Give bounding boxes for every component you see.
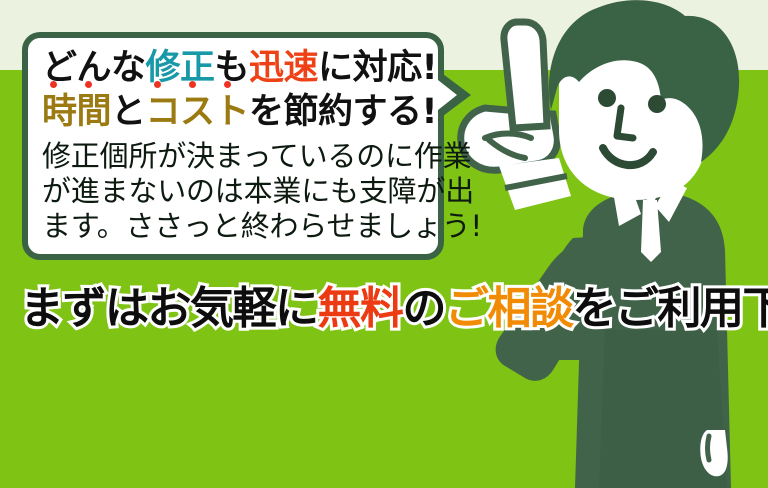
emphasis-dot — [50, 81, 57, 88]
call-to-action-text: まずはお気軽に無料のご相談をご利用下さい。 — [20, 281, 760, 337]
emphasis-dot — [154, 81, 161, 88]
headline-1-seg5: に対応! — [318, 48, 437, 88]
headline-2-emphasis-gold-1: 時間 — [42, 90, 111, 134]
body-line-1: 修正個所が決まっているのに作業 — [42, 139, 424, 174]
body-line-2: が進まないのは本業にも支障が出 — [42, 174, 424, 209]
headline-1-seg1: どんな — [42, 48, 146, 88]
headline-2-seg3-text: コスト — [146, 92, 250, 132]
headline-2-seg2: と — [111, 92, 146, 132]
pointing-hand — [461, 22, 571, 210]
head — [549, 0, 739, 200]
headline-2-emphasis-gold-2: コスト — [146, 90, 250, 134]
speech-bubble-tail-fill — [438, 80, 457, 110]
headline-2-seg1-text: 時間 — [42, 92, 111, 132]
promo-banner: どんな修正も迅速に対応! 時間とコストを節約する! 修正個所が決まっているのに作… — [0, 0, 768, 488]
eye-right — [648, 95, 666, 113]
cta-emphasis-free: 無料 — [318, 283, 403, 334]
headline-line-1: どんな修正も迅速に対応! — [42, 46, 424, 90]
suit-body — [496, 192, 731, 488]
cta-emphasis-consultation: ご相談 — [445, 283, 573, 334]
headline-line-2: 時間とコストを節約する! — [42, 90, 424, 134]
cta-seg1: まずはお気軽に — [20, 283, 318, 334]
headline-1-emphasis-red: 迅速 — [249, 48, 318, 88]
cta-seg5: をご利用下さい。 — [573, 283, 768, 334]
speech-bubble: どんな修正も迅速に対応! 時間とコストを節約する! 修正個所が決まっているのに作… — [22, 32, 444, 260]
emphasis-dot — [189, 81, 196, 88]
businessman-illustration — [455, 0, 768, 488]
cta-seg3: の — [403, 283, 446, 334]
headline-2-seg4: を節約する! — [249, 92, 437, 132]
body-line-3: ます。ささっと終わらせましょう! — [42, 209, 424, 244]
eye-left — [598, 89, 616, 107]
emphasis-dot — [85, 81, 92, 88]
emphasis-dot — [224, 81, 231, 88]
headline-1-seg3: も — [215, 48, 250, 88]
